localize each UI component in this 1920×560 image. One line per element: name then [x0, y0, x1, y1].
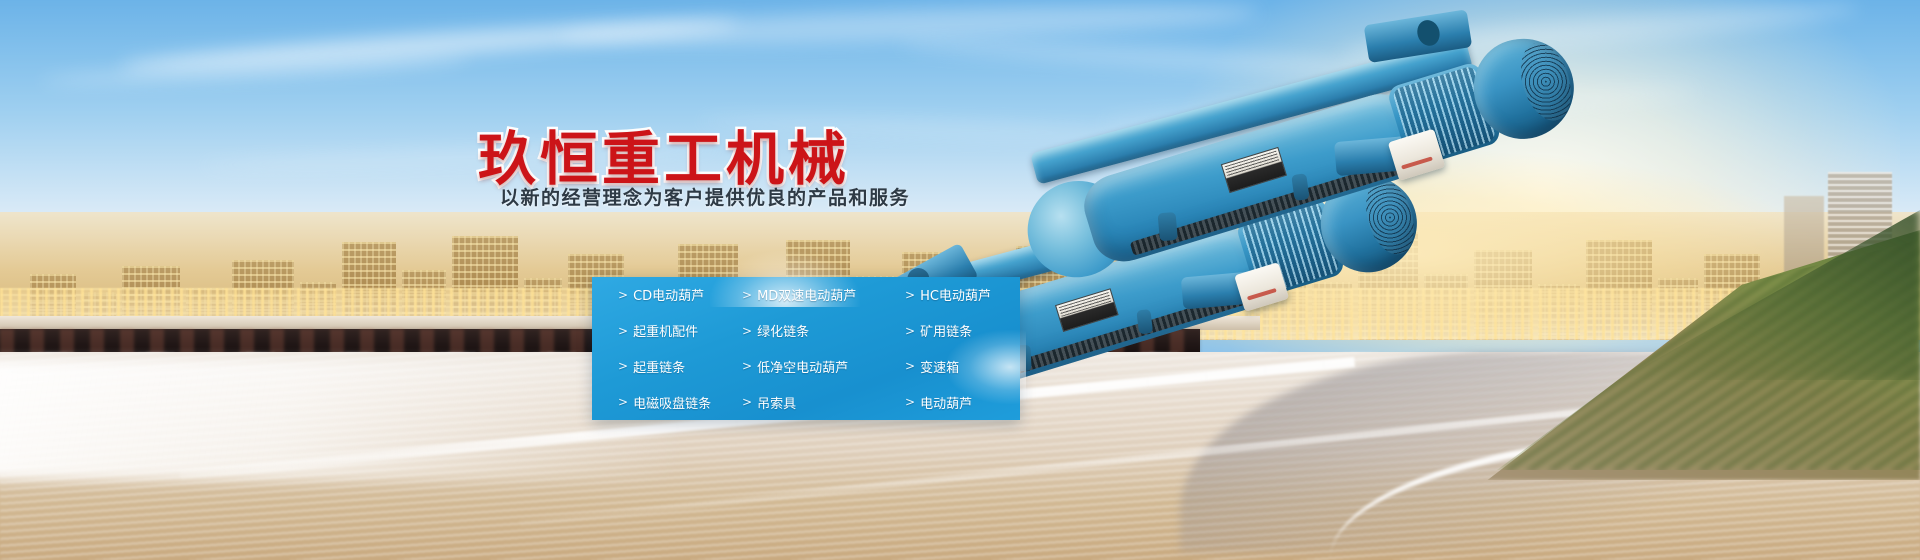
product-link-label: 电磁吸盘链条: [633, 393, 711, 412]
product-link-label: CD电动葫芦: [633, 285, 704, 304]
product-link-label: 矿用链条: [920, 321, 972, 340]
chevron-right-icon: >: [618, 359, 628, 373]
product-link-cd-electric-hoist[interactable]: > CD电动葫芦: [618, 285, 742, 304]
hero-banner: 玖恒重工机械 以新的经营理念为客户提供优良的产品和服务 > CD电动葫芦 > M…: [0, 0, 1920, 560]
chevron-right-icon: >: [742, 288, 752, 302]
chevron-right-icon: >: [618, 395, 628, 409]
product-link-label: 绿化链条: [757, 321, 809, 340]
product-link-hc-electric-hoist[interactable]: > HC电动葫芦: [905, 285, 1046, 304]
page-subtitle: 以新的经营理念为客户提供优良的产品和服务: [500, 183, 910, 210]
product-link-md-dual-speed-hoist[interactable]: > MD双速电动葫芦: [742, 285, 905, 304]
product-link-label: 变速箱: [920, 357, 959, 376]
product-link-label: 电动葫芦: [920, 393, 972, 412]
product-link-gearbox[interactable]: > 变速箱: [905, 357, 1046, 376]
chevron-right-icon: >: [742, 395, 752, 409]
product-links-grid: > CD电动葫芦 > MD双速电动葫芦 > HC电动葫芦 > 起重机配件 > 绿…: [592, 277, 1020, 420]
product-link-greening-chain[interactable]: > 绿化链条: [742, 321, 905, 340]
product-link-label: 起重机配件: [633, 321, 698, 340]
product-link-low-headroom-hoist[interactable]: > 低净空电动葫芦: [742, 357, 905, 376]
chevron-right-icon: >: [905, 395, 915, 409]
chevron-right-icon: >: [742, 359, 752, 373]
product-link-electric-hoist[interactable]: > 电动葫芦: [905, 393, 1046, 412]
chevron-right-icon: >: [905, 359, 915, 373]
product-link-label: MD双速电动葫芦: [757, 285, 856, 304]
chevron-right-icon: >: [618, 324, 628, 338]
product-link-magnetic-chuck-chain[interactable]: > 电磁吸盘链条: [618, 393, 742, 412]
chevron-right-icon: >: [742, 324, 752, 338]
product-link-label: 低净空电动葫芦: [757, 357, 848, 376]
product-link-slings[interactable]: > 吊索具: [742, 393, 905, 412]
product-link-label: HC电动葫芦: [920, 285, 991, 304]
product-link-label: 起重链条: [633, 357, 685, 376]
hoist-clamp: [1158, 212, 1178, 241]
product-link-mining-chain[interactable]: > 矿用链条: [905, 321, 1046, 340]
product-link-crane-parts[interactable]: > 起重机配件: [618, 321, 742, 340]
product-links-panel: > CD电动葫芦 > MD双速电动葫芦 > HC电动葫芦 > 起重机配件 > 绿…: [592, 277, 1020, 420]
product-link-lifting-chain[interactable]: > 起重链条: [618, 357, 742, 376]
chevron-right-icon: >: [905, 288, 915, 302]
chevron-right-icon: >: [618, 288, 628, 302]
product-link-label: 吊索具: [757, 393, 796, 412]
chevron-right-icon: >: [905, 324, 915, 338]
